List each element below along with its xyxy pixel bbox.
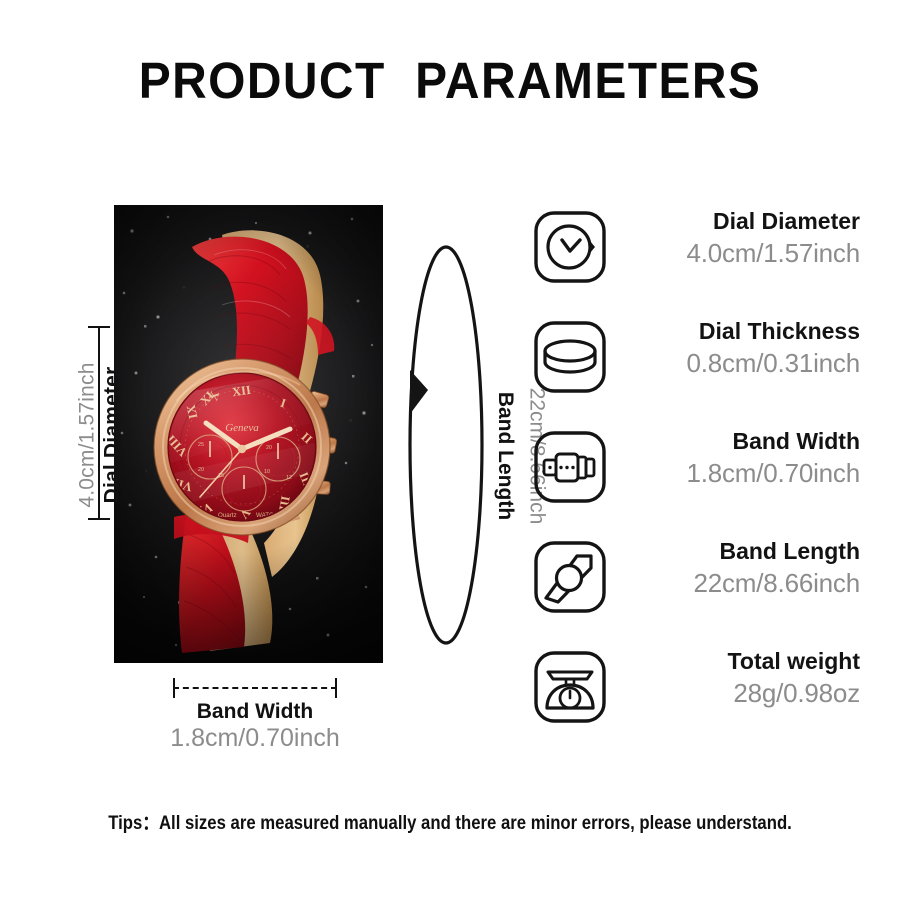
watch-dial-icon — [533, 210, 607, 284]
watch-illustration: XII I II III IIII V VI VII VIII IX X XI … — [114, 205, 383, 663]
spec-label: Total weight — [630, 646, 860, 676]
band-length-loop-arrow — [396, 242, 496, 648]
band-width-annotation-value: 1.8cm/0.70inch — [114, 724, 396, 753]
spec-list: Dial Diameter 4.0cm/1.57inch Dial Thickn… — [520, 206, 860, 756]
spec-label: Dial Thickness — [630, 316, 860, 346]
disc-thickness-icon — [533, 320, 607, 394]
dial-diameter-annotation-label: Dial Diameter — [100, 367, 124, 504]
spec-value: 4.0cm/1.57inch — [630, 236, 860, 270]
watch-strap-icon — [533, 540, 607, 614]
buckle-icon — [533, 430, 607, 504]
band-length-annotation-label: Band Length — [493, 392, 517, 520]
spec-row-total-weight: Total weight 28g/0.98oz — [520, 646, 860, 756]
dial-diameter-annotation-value: 4.0cm/1.57inch — [76, 362, 100, 507]
band-width-dimension-line — [173, 678, 337, 698]
spec-text-dial-diameter: Dial Diameter 4.0cm/1.57inch — [630, 206, 860, 270]
spec-value: 0.8cm/0.31inch — [630, 346, 860, 380]
spec-value: 28g/0.98oz — [630, 676, 860, 710]
product-photo: XII I II III IIII V VI VII VIII IX X XI … — [114, 205, 383, 663]
tips-note: Tips：All sizes are measured manually and… — [54, 808, 846, 835]
spec-label: Band Length — [630, 536, 860, 566]
spec-text-total-weight: Total weight 28g/0.98oz — [630, 646, 860, 710]
page-title: PRODUCT PARAMETERS — [27, 52, 873, 110]
spec-value: 22cm/8.66inch — [630, 566, 860, 600]
dimension-cap-right — [335, 678, 337, 698]
spec-row-band-width: Band Width 1.8cm/0.70inch — [520, 426, 860, 536]
svg-text:20: 20 — [266, 445, 272, 451]
spec-text-dial-thickness: Dial Thickness 0.8cm/0.31inch — [630, 316, 860, 380]
spec-label: Band Width — [630, 426, 860, 456]
dimension-cap-bottom — [88, 518, 110, 520]
spec-label: Dial Diameter — [630, 206, 860, 236]
band-width-annotation-label: Band Width — [114, 700, 396, 724]
spec-text-band-width: Band Width 1.8cm/0.70inch — [630, 426, 860, 490]
kitchen-scale-icon — [533, 650, 607, 724]
spec-text-band-length: Band Length 22cm/8.66inch — [630, 536, 860, 600]
spec-row-band-length: Band Length 22cm/8.66inch — [520, 536, 860, 646]
spec-row-dial-diameter: Dial Diameter 4.0cm/1.57inch — [520, 206, 860, 316]
spec-value: 1.8cm/0.70inch — [630, 456, 860, 490]
dimension-bar-dashed — [173, 687, 337, 689]
spec-row-dial-thickness: Dial Thickness 0.8cm/0.31inch — [520, 316, 860, 426]
